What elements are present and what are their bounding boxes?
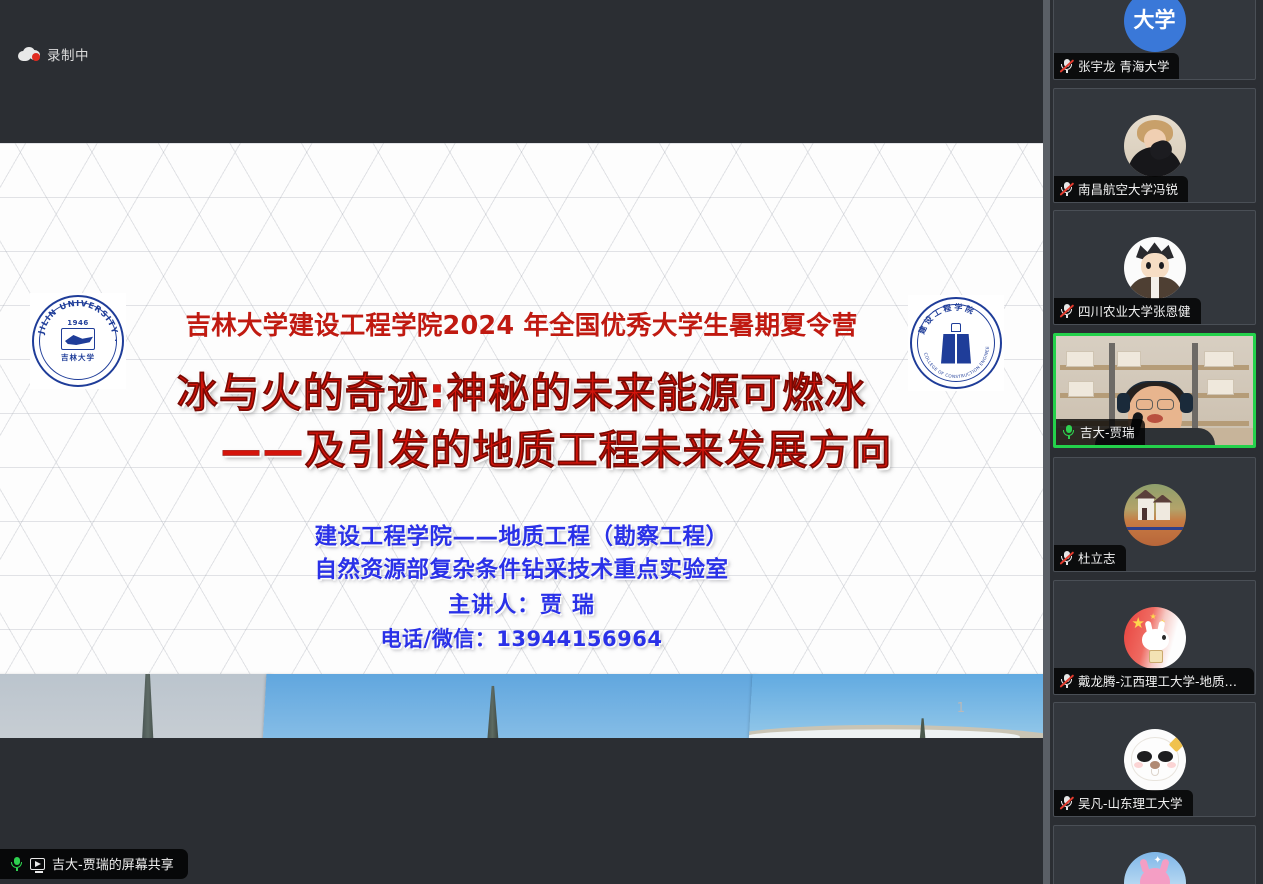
seal-shield-icon (61, 328, 95, 350)
seal-year: 1946 (67, 319, 88, 327)
slide-subtitle-block: 建设工程学院——地质工程（勘察工程） 自然资源部复杂条件钻采技术重点实验室 主讲… (0, 521, 1043, 654)
screen-share-icon (30, 858, 45, 870)
participant-name: 南昌航空大学冯锐 (1078, 179, 1178, 198)
participant-name: 戴龙腾-江西理工大学-地质工程 (1078, 671, 1244, 690)
participant-tile[interactable]: ✦ (1053, 825, 1256, 884)
recording-label: 录制中 (47, 44, 89, 64)
participant-name: 吉大-贾瑞 (1080, 422, 1135, 441)
mic-on-icon (10, 856, 23, 871)
participant-name-tag: 戴龙腾-江西理工大学-地质工程 (1054, 668, 1254, 694)
participant-tile[interactable]: 杜立志 (1053, 457, 1256, 572)
cat-sunglasses-avatar (1124, 729, 1186, 791)
participant-tile[interactable]: ★★★ 戴龙腾-江西理工大学-地质工程 (1053, 580, 1256, 695)
participant-video-panel[interactable]: 大学 张宇龙 青海大学 南昌航空大学冯锐 (1050, 0, 1263, 884)
slide-photo-strip (0, 674, 1043, 738)
mic-on-icon (1062, 424, 1075, 439)
subtitle-laboratory: 自然资源部复杂条件钻采技术重点实验室 (0, 554, 1043, 587)
person-photo-avatar (1124, 115, 1186, 177)
shared-screen-slide[interactable]: JILIN UNIVERSITY · CHINA 1946 吉林大学 (0, 143, 1043, 738)
mic-muted-icon (1060, 58, 1073, 73)
subtitle-speaker: 主讲人：贾 瑞 (0, 590, 1043, 622)
anime-character-avatar (1124, 237, 1186, 299)
seal-cn-name: 吉林大学 (61, 352, 95, 363)
participant-tile[interactable]: 大学 张宇龙 青海大学 (1053, 0, 1256, 80)
participant-name-tag: 杜立志 (1054, 545, 1126, 571)
rabbit-flag-avatar: ★★★ (1124, 607, 1186, 669)
participant-name: 张宇龙 青海大学 (1078, 56, 1169, 75)
slide-main-title: 冰与火的奇迹:神秘的未来能源可燃冰 ——及引发的地质工程未来发展方向 (0, 365, 1043, 480)
recording-indicator[interactable]: 录制中 (18, 44, 89, 64)
photo-drill-rig-frost-forest (744, 674, 1043, 738)
title-line-2: ——及引发的地质工程未来发展方向 (0, 422, 1043, 479)
title-line-1: 冰与火的奇迹:神秘的未来能源可燃冰 (177, 369, 866, 417)
avatar-wrap: ✦ (1054, 826, 1255, 884)
photo-drill-rig-tundra-camp (258, 674, 757, 738)
participant-name-tag: 四川农业大学张恩健 (1054, 298, 1201, 324)
participant-tile[interactable]: 南昌航空大学冯锐 (1053, 88, 1256, 203)
cloud-record-icon (18, 47, 40, 61)
mic-muted-icon (1060, 550, 1073, 565)
blue-initials-avatar: 大学 (1124, 0, 1186, 52)
mic-muted-icon (1060, 795, 1073, 810)
participant-tile-active-speaker[interactable]: 吉大-贾瑞 (1053, 333, 1256, 448)
participant-tile[interactable]: 四川农业大学张恩健 (1053, 210, 1256, 325)
participant-name: 四川农业大学张恩健 (1078, 301, 1191, 320)
panel-divider[interactable] (1043, 0, 1050, 884)
participant-name-tag: 南昌航空大学冯锐 (1054, 176, 1188, 202)
screen-share-text: 吉大-贾瑞的屏幕共享 (52, 854, 174, 873)
slide-banner-heading: 吉林大学建设工程学院2024 年全国优秀大学生暑期夏令营 (0, 305, 1043, 342)
participant-name-tag: 吉大-贾瑞 (1056, 419, 1145, 445)
avatar-initials: 大学 (1134, 4, 1176, 34)
subtitle-department: 建设工程学院——地质工程（勘察工程） (0, 521, 1043, 554)
zoom-meeting-window: 录制中 JILIN UNIVERSITY · CHINA 1946 (0, 0, 1263, 884)
mic-muted-icon (1060, 303, 1073, 318)
participant-tile[interactable]: 吴凡-山东理工大学 (1053, 702, 1256, 817)
landscape-painting-avatar (1124, 484, 1186, 546)
participant-name-tag: 吴凡-山东理工大学 (1054, 790, 1193, 816)
screen-share-label: 吉大-贾瑞的屏幕共享 (0, 849, 188, 879)
slide-page-number: 1 (957, 701, 965, 716)
participant-name-tag: 张宇龙 青海大学 (1054, 53, 1179, 79)
pink-bunny-avatar: ✦ (1124, 852, 1186, 884)
mic-muted-icon (1060, 181, 1073, 196)
photo-drill-rig-snow-field (0, 674, 271, 738)
participant-name: 杜立志 (1078, 548, 1116, 567)
participant-name: 吴凡-山东理工大学 (1078, 793, 1183, 812)
mic-muted-icon (1060, 673, 1073, 688)
subtitle-contact: 电话/微信：13944156964 (0, 624, 1043, 655)
